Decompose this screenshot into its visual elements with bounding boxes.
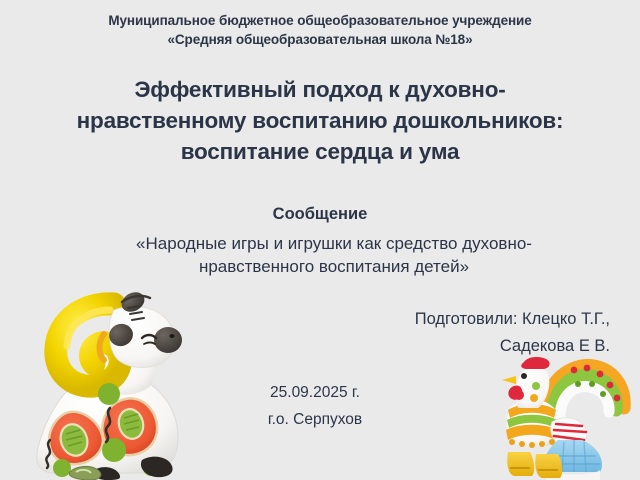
title-line-1: Эффективный подход к духовно-: [24, 74, 616, 105]
organization-header: Муниципальное бюджетное общеобразователь…: [0, 11, 640, 49]
organization-line-1: Муниципальное бюджетное общеобразователь…: [108, 13, 531, 28]
authors-line-1: Подготовили: Клецко Т.Г.,: [190, 306, 610, 333]
title-line-2: нравственному воспитанию дошкольников:: [24, 105, 616, 136]
date-place-block: 25.09.2025 г. г.о. Серпухов: [200, 379, 430, 433]
dymkovo-rooster-toy-image: [474, 356, 640, 480]
presentation-date: 25.09.2025 г.: [200, 379, 430, 406]
page-title: Эффективный подход к духовно- нравственн…: [24, 74, 616, 167]
report-topic-line-1: «Народные игры и игрушки как средство ду…: [60, 232, 608, 255]
report-label: Сообщение: [0, 205, 640, 224]
authors-block: Подготовили: Клецко Т.Г., Садекова Е В.: [190, 306, 610, 360]
organization-line-2: «Средняя общеобразовательная школа №18»: [0, 30, 640, 49]
title-line-3: воспитание сердца и ума: [24, 136, 616, 167]
presentation-place: г.о. Серпухов: [200, 406, 430, 433]
dymkovo-ram-toy-image: [18, 272, 208, 480]
presentation-slide: Муниципальное бюджетное общеобразователь…: [0, 0, 640, 480]
